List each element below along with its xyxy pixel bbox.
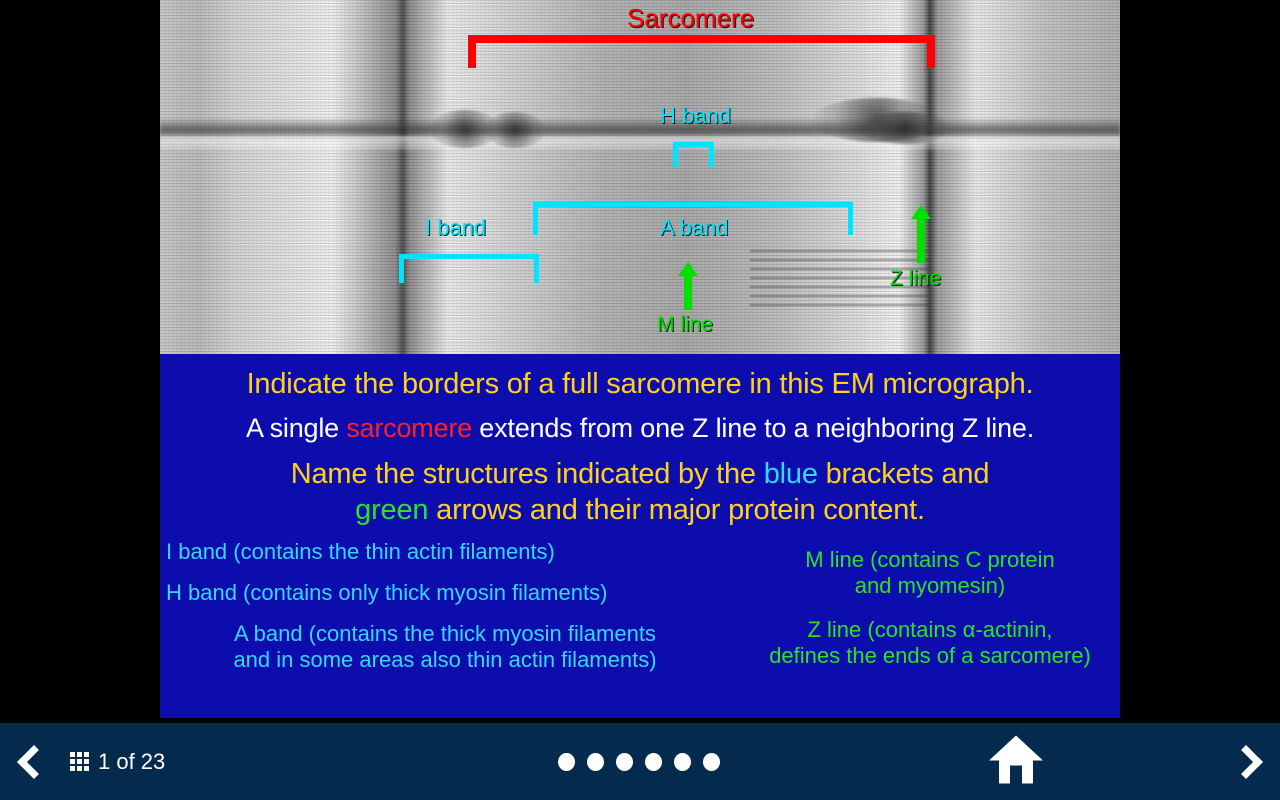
pagination-dots	[558, 753, 720, 771]
question-2-line-2: green arrows and their major protein con…	[160, 491, 1120, 527]
m-line-label: M line	[657, 314, 713, 335]
slide-index-button[interactable]: 1 of 23	[70, 749, 165, 775]
app-root: Sarcomere H band I band A band M line Z …	[0, 0, 1280, 800]
answers-column-green: M line (contains C protein and myomesin)…	[740, 539, 1120, 688]
answer-1: A single sarcomere extends from one Z li…	[160, 401, 1120, 444]
answer-h-band: H band (contains only thick myosin filam…	[166, 580, 740, 606]
pagination-dot[interactable]	[645, 753, 662, 771]
question-2-highlight-blue: blue	[764, 458, 818, 490]
h-band-bracket-icon	[673, 142, 714, 167]
answer-a-band-line-2: and in some areas also thin actin filame…	[166, 647, 724, 673]
answer-z-line-line-2: defines the ends of a sarcomere)	[740, 643, 1120, 669]
answer-1-part-c: extends from one Z line to a neighboring…	[472, 413, 1034, 443]
a-band-label: A band	[660, 217, 729, 239]
pagination-dot[interactable]	[674, 753, 691, 771]
sarcomere-label: Sarcomere	[627, 5, 754, 31]
h-band-label: H band	[660, 105, 731, 127]
next-slide-button[interactable]	[1234, 750, 1258, 774]
slide-index-label: 1 of 23	[98, 749, 165, 775]
answer-1-highlight-sarcomere: sarcomere	[346, 413, 472, 443]
answer-m-line: M line (contains C protein and myomesin)	[740, 547, 1120, 599]
pagination-dot[interactable]	[616, 753, 633, 771]
question-1: Indicate the borders of a full sarcomere…	[160, 354, 1120, 401]
home-button[interactable]	[988, 733, 1044, 790]
grid-icon	[70, 752, 89, 771]
question-2-highlight-green: green	[355, 494, 428, 526]
pagination-dot[interactable]	[587, 753, 604, 771]
sarcomere-bracket-icon	[468, 35, 935, 68]
answer-m-line-line-2: and myomesin)	[740, 573, 1120, 599]
answer-i-band: I band (contains the thin actin filament…	[166, 539, 740, 565]
answer-1-part-a: A single	[246, 413, 346, 443]
slide-text-panel: Indicate the borders of a full sarcomere…	[160, 354, 1120, 718]
answer-a-band-line-1: A band (contains the thick myosin filame…	[166, 621, 724, 647]
micrograph-annotation-overlay: Sarcomere H band I band A band M line Z …	[160, 0, 1120, 354]
answer-z-line: Z line (contains α-actinin, defines the …	[740, 617, 1120, 669]
bottom-navigation-bar: 1 of 23	[0, 723, 1280, 800]
question-2-part-a: Name the structures indicated by the	[291, 458, 764, 490]
answer-a-band: A band (contains the thick myosin filame…	[166, 621, 740, 673]
i-band-bracket-icon	[399, 254, 539, 283]
home-icon	[988, 733, 1044, 785]
pagination-dot[interactable]	[703, 753, 720, 771]
slide-content: Sarcomere H band I band A band M line Z …	[160, 0, 1120, 718]
answer-z-line-line-1: Z line (contains α-actinin,	[740, 617, 1120, 643]
i-band-label: I band	[425, 217, 486, 239]
answers-block: I band (contains the thin actin filament…	[160, 539, 1120, 688]
chevron-right-icon	[1229, 745, 1263, 779]
answers-column-blue: I band (contains the thin actin filament…	[160, 539, 740, 688]
question-2-line-1: Name the structures indicated by the blu…	[160, 444, 1120, 491]
z-line-label: Z line	[890, 268, 941, 289]
previous-slide-button[interactable]	[22, 750, 46, 774]
pagination-dot[interactable]	[558, 753, 575, 771]
chevron-left-icon	[17, 745, 51, 779]
question-2-part-c: brackets and	[818, 458, 990, 490]
question-2-line2-rest: arrows and their major protein content.	[428, 494, 925, 526]
answer-m-line-line-1: M line (contains C protein	[740, 547, 1120, 573]
